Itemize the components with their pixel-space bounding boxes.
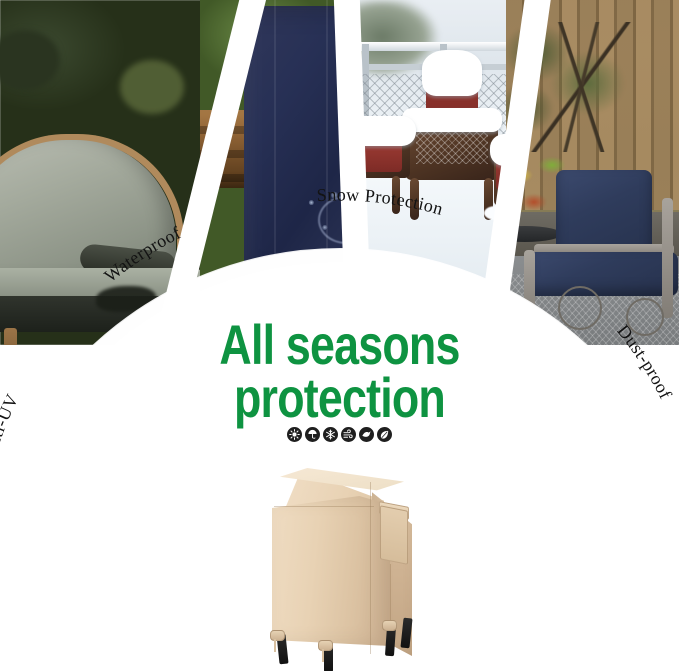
chair-leg (392, 176, 400, 214)
drawstring-cord (274, 639, 276, 652)
snow-pile (402, 108, 502, 132)
wind-icon (341, 427, 356, 442)
sun-icon (287, 427, 302, 442)
snowflake-icon (323, 427, 338, 442)
cover-seam (370, 482, 371, 654)
chair-leg (410, 178, 419, 220)
drawstring-cord (322, 649, 324, 662)
snow-pile (422, 50, 482, 96)
rain-icon (305, 427, 320, 442)
chair-frame-arm (662, 198, 673, 318)
headline: All seasons protection (68, 318, 611, 424)
product-banner: Anti-UV Waterproof Snow Protection Dust-… (0, 0, 679, 671)
product-image-chair-cover (262, 468, 420, 671)
bokeh-blur (120, 60, 184, 114)
drawstring-toggle (270, 630, 285, 641)
headline-line-2: protection (68, 371, 611, 424)
chair-seat-cushion (528, 252, 678, 296)
bird-icon (359, 427, 374, 442)
cover-side-pocket (380, 505, 408, 564)
cover-front-panel (272, 496, 390, 646)
leaf-icon (377, 427, 392, 442)
drawstring-toggle (318, 640, 333, 651)
weather-icon-row (0, 427, 679, 442)
cover-seam (274, 506, 374, 507)
chair-leg (4, 328, 17, 345)
cover-fold (274, 0, 276, 274)
drawstring-toggle (382, 620, 397, 631)
chair-swivel-base (626, 298, 664, 336)
